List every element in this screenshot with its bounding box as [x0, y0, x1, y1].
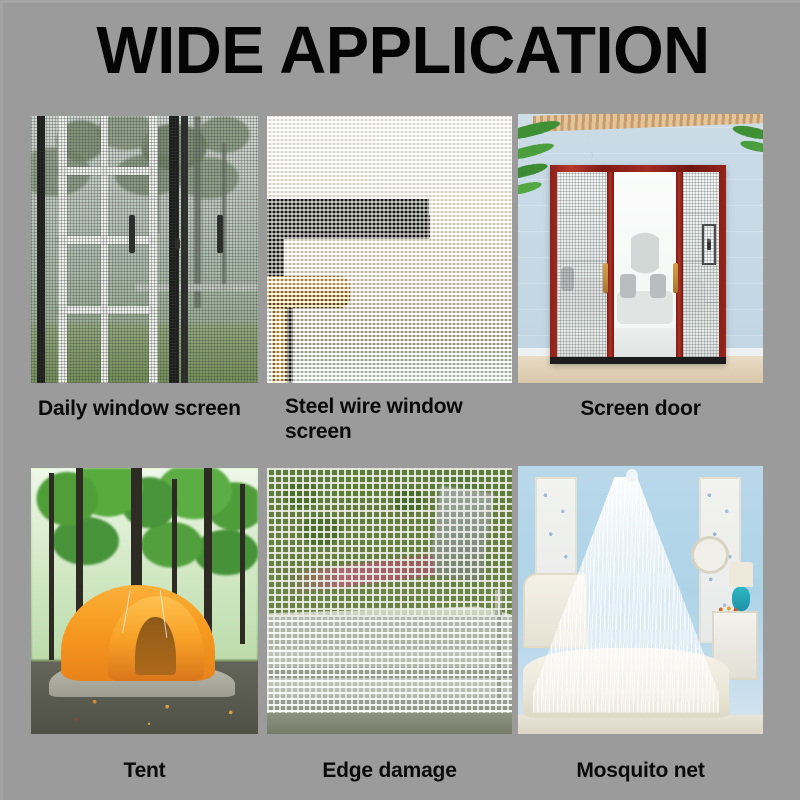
door-threshold — [550, 357, 726, 364]
door-panel-middle — [614, 172, 676, 357]
steel-mesh-highlight — [267, 116, 512, 383]
wall-clock-icon — [691, 536, 729, 574]
caption-mosquito-net: Mosquito net — [518, 758, 763, 783]
bedroom-floor — [518, 715, 763, 734]
gallery-image-screen-door[interactable] — [518, 114, 763, 383]
bottom-frame-band — [267, 713, 512, 734]
door-panels — [557, 172, 719, 357]
canopy-crown-ring — [626, 469, 638, 482]
gallery-image-steel-wire-window-screen[interactable] — [267, 116, 512, 383]
tree-trunk — [49, 473, 54, 659]
interior-floor — [614, 328, 676, 358]
page-root: WIDE APPLICATION — [0, 0, 800, 800]
door-stile — [607, 172, 614, 357]
top-edge-highlight — [0, 0, 800, 3]
screen-mesh-overlay — [683, 172, 719, 357]
door-handle[interactable] — [673, 263, 678, 293]
cushion-silhouette — [620, 274, 636, 298]
damaged-mesh-overlay — [267, 617, 512, 718]
edge-damage-illustration — [267, 468, 512, 734]
page-title: WIDE APPLICATION — [51, 16, 755, 86]
insect-mesh-overlay — [31, 116, 258, 383]
caption-steel-wire-window-screen: Steel wire window screen — [285, 394, 500, 444]
daily-window-screen-illustration — [31, 116, 258, 383]
caption-screen-door: Screen door — [518, 396, 763, 421]
lamp-shade — [729, 562, 754, 586]
door-panel-right — [683, 172, 719, 357]
gallery-image-edge-damage[interactable] — [267, 468, 512, 734]
door-frame — [550, 165, 726, 364]
gallery-image-tent[interactable] — [31, 468, 258, 734]
door-panel-left — [557, 172, 607, 357]
tent-illustration — [31, 468, 258, 734]
mosquito-net-illustration — [518, 466, 763, 734]
screen-door-illustration — [518, 114, 763, 383]
caption-daily-window-screen: Daily window screen — [38, 396, 270, 421]
door-handle[interactable] — [603, 263, 608, 293]
cushion-silhouette — [650, 274, 666, 298]
gallery-image-mosquito-net[interactable] — [518, 466, 763, 734]
gallery-image-daily-window-screen[interactable] — [31, 116, 258, 383]
caption-edge-damage: Edge damage — [267, 758, 512, 783]
steel-wire-window-screen-illustration — [267, 116, 512, 383]
coarse-mesh-overlay — [267, 468, 512, 617]
caption-tent: Tent — [31, 758, 258, 783]
tree-trunk — [240, 484, 245, 644]
left-edge-highlight — [0, 0, 3, 800]
screen-mesh-overlay — [557, 172, 607, 357]
